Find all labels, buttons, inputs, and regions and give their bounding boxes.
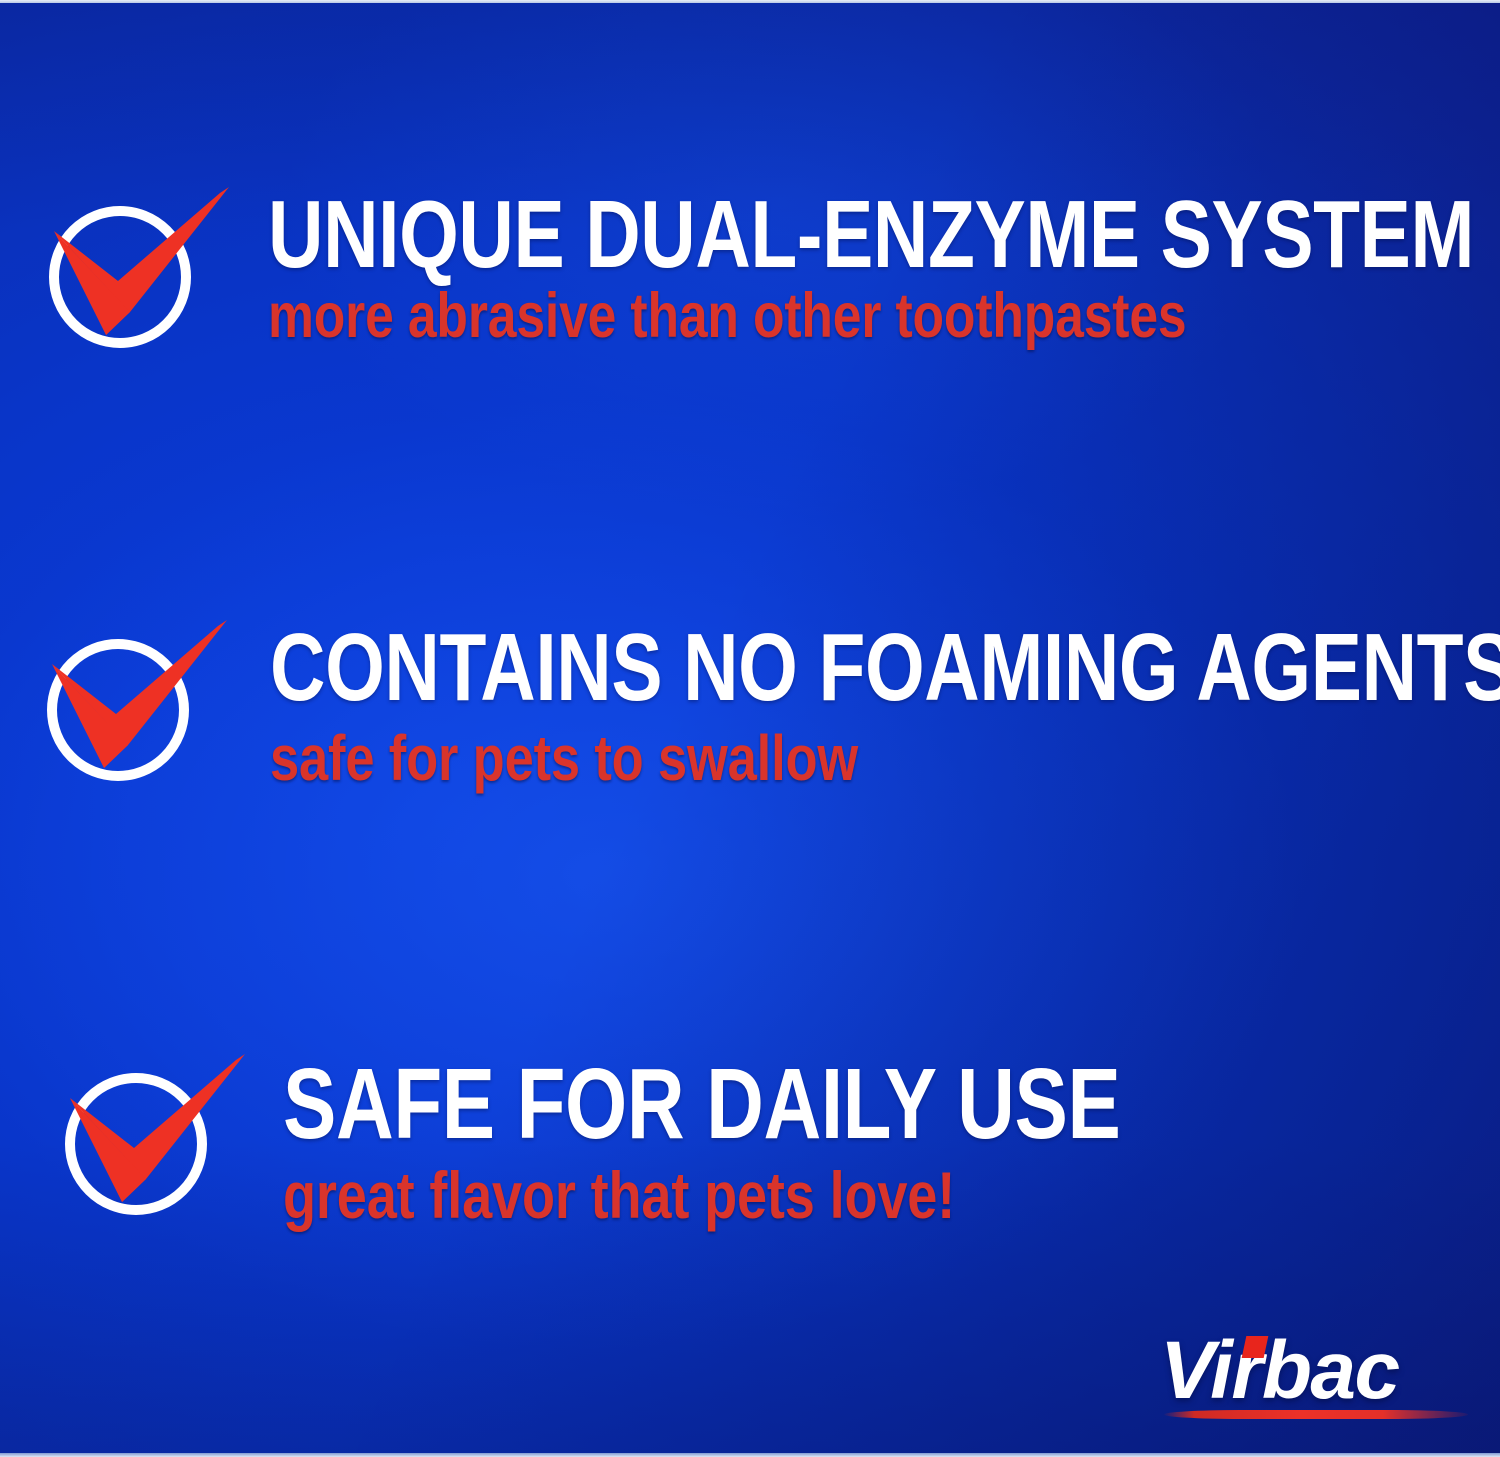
feature-headline: CONTAINS NO FOAMING AGENTS <box>270 624 1500 712</box>
check-circle-icon <box>42 618 242 818</box>
feature-subline: great flavor that pets love! <box>283 1162 1141 1228</box>
feature-subline: more abrasive than other toothpastes <box>268 285 1500 348</box>
check-circle-icon <box>44 185 244 385</box>
logo-swoosh-icon <box>1164 1410 1468 1419</box>
feature-text-block: SAFE FOR DAILY USE great flavor that pet… <box>283 1058 1330 1228</box>
top-edge-strip <box>0 0 1500 3</box>
feature-headline: UNIQUE DUAL-ENZYME SYSTEM <box>268 191 1474 279</box>
feature-item: UNIQUE DUAL-ENZYME SYSTEM more abrasive … <box>0 185 1500 395</box>
feature-item: CONTAINS NO FOAMING AGENTS safe for pets… <box>0 618 1500 828</box>
bottom-edge-strip <box>0 1453 1500 1457</box>
check-circle-icon <box>60 1052 260 1252</box>
brand-wordmark: Virbac <box>1160 1330 1472 1412</box>
logo-dot-icon <box>1242 1336 1269 1358</box>
feature-text-block: CONTAINS NO FOAMING AGENTS safe for pets… <box>270 624 1500 790</box>
feature-text-block: UNIQUE DUAL-ENZYME SYSTEM more abrasive … <box>268 191 1500 348</box>
feature-item: SAFE FOR DAILY USE great flavor that pet… <box>0 1052 1500 1262</box>
feature-headline: SAFE FOR DAILY USE <box>283 1058 1120 1150</box>
infographic-canvas: UNIQUE DUAL-ENZYME SYSTEM more abrasive … <box>0 0 1500 1457</box>
brand-logo: Virbac <box>1160 1330 1472 1426</box>
feature-list: UNIQUE DUAL-ENZYME SYSTEM more abrasive … <box>0 0 1500 1457</box>
feature-subline: safe for pets to swallow <box>270 726 1500 790</box>
